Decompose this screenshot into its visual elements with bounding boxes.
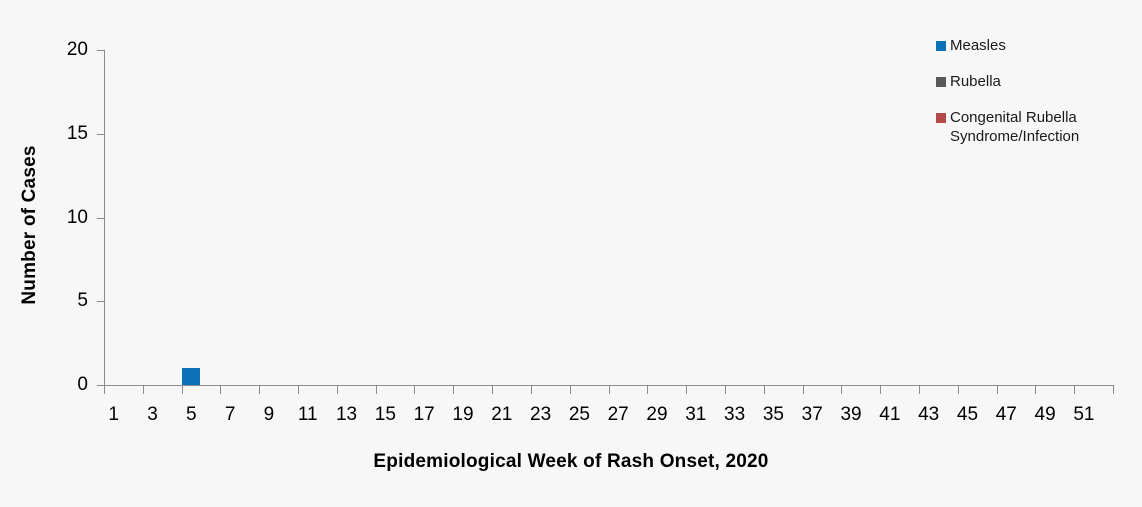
x-axis-tick-label: 35	[763, 404, 784, 426]
x-axis-tick-label: 9	[264, 404, 275, 426]
x-axis-tick-label: 3	[147, 404, 158, 426]
x-axis-tick-label: 25	[569, 404, 590, 426]
chart-legend: MeaslesRubellaCongenital Rubella Syndrom…	[936, 36, 1136, 163]
x-axis-tick	[1035, 386, 1036, 394]
x-axis-tick	[1074, 386, 1075, 394]
x-axis-tick	[182, 386, 183, 394]
x-axis-tick	[647, 386, 648, 394]
legend-swatch-icon	[936, 113, 946, 123]
x-axis-tick-label: 49	[1035, 404, 1056, 426]
x-axis-tick	[143, 386, 144, 394]
x-axis-tick-label: 17	[414, 404, 435, 426]
y-axis-tick	[97, 218, 105, 219]
y-axis-tick	[97, 50, 105, 51]
x-axis-tick-label: 31	[685, 404, 706, 426]
x-axis-tick	[919, 386, 920, 394]
x-axis-tick-label: 29	[646, 404, 667, 426]
legend-item-label: Rubella	[950, 72, 1001, 91]
x-axis-tick	[609, 386, 610, 394]
x-axis-tick	[414, 386, 415, 394]
x-axis-tick	[803, 386, 804, 394]
legend-swatch-icon	[936, 77, 946, 87]
x-axis-tick	[725, 386, 726, 394]
y-axis-tick-label: 0	[77, 374, 88, 396]
y-axis-tick	[97, 134, 105, 135]
y-axis-tick-label: 20	[67, 39, 88, 61]
x-axis-tick-label: 45	[957, 404, 978, 426]
legend-item-label: Measles	[950, 36, 1006, 55]
x-axis-tick-label: 23	[530, 404, 551, 426]
x-axis-tick-label: 37	[802, 404, 823, 426]
x-axis-tick	[337, 386, 338, 394]
x-axis-title: Epidemiological Week of Rash Onset, 2020	[373, 451, 768, 473]
x-axis-tick-label: 51	[1073, 404, 1094, 426]
x-axis-tick-label: 33	[724, 404, 745, 426]
x-axis-tick	[764, 386, 765, 394]
x-axis-tick-label: 39	[840, 404, 861, 426]
legend-item[interactable]: Measles	[936, 36, 1136, 55]
legend-item[interactable]: Rubella	[936, 72, 1136, 91]
y-axis-tick-label: 10	[67, 207, 88, 229]
x-axis-tick-label: 47	[996, 404, 1017, 426]
x-axis-tick	[104, 386, 105, 394]
legend-item[interactable]: Congenital Rubella Syndrome/Infection	[936, 108, 1136, 146]
x-axis-tick-label: 21	[491, 404, 512, 426]
y-axis-title: Number of Cases	[19, 145, 41, 304]
x-axis-tick-label: 27	[608, 404, 629, 426]
x-axis-tick-label: 13	[336, 404, 357, 426]
x-axis-tick	[1113, 386, 1114, 394]
x-axis-tick	[492, 386, 493, 394]
measles-rubella-epi-curve-chart: Number of Cases 05101520 135791113151719…	[0, 0, 1142, 507]
x-axis-tick-label: 1	[108, 404, 119, 426]
x-axis-tick-label: 5	[186, 404, 197, 426]
x-axis-tick	[531, 386, 532, 394]
x-axis-tick	[376, 386, 377, 394]
legend-item-label: Congenital Rubella Syndrome/Infection	[950, 108, 1136, 146]
x-axis-tick-label: 7	[225, 404, 236, 426]
x-axis-tick	[298, 386, 299, 394]
x-axis-tick-label: 41	[879, 404, 900, 426]
x-axis-tick	[686, 386, 687, 394]
x-axis-tick	[220, 386, 221, 394]
y-axis-tick-label: 15	[67, 123, 88, 145]
x-axis-tick-label: 19	[452, 404, 473, 426]
x-axis-tick	[259, 386, 260, 394]
legend-swatch-icon	[936, 41, 946, 51]
x-axis-tick	[880, 386, 881, 394]
y-axis-tick-label: 5	[77, 290, 88, 312]
x-axis-tick-label: 43	[918, 404, 939, 426]
x-axis-tick	[997, 386, 998, 394]
x-axis-tick	[841, 386, 842, 394]
x-axis-tick	[958, 386, 959, 394]
y-axis-tick	[97, 301, 105, 302]
x-axis-tick	[570, 386, 571, 394]
x-axis-tick-label: 11	[298, 404, 318, 426]
x-axis-tick	[453, 386, 454, 394]
bar-measles-week-5	[182, 368, 200, 385]
x-axis-tick-label: 15	[375, 404, 396, 426]
